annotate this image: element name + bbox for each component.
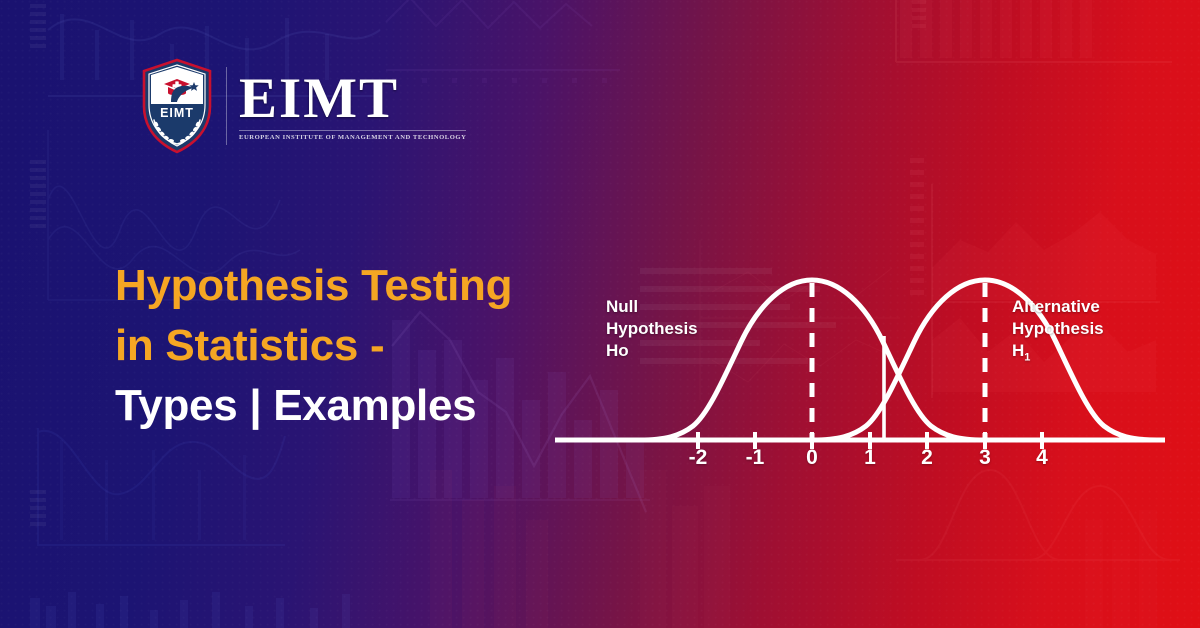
logo-text: EIMT EUROPEAN INSTITUTE OF MANAGEMENT AN…: [226, 67, 466, 145]
title-line-3: Types | Examples: [115, 376, 615, 436]
title-line-2: in Statistics -: [115, 316, 615, 376]
alt-label-line-2: Hypothesis: [1012, 318, 1104, 340]
svg-text:EIMT: EIMT: [160, 106, 194, 120]
title-line-1: Hypothesis Testing: [115, 256, 615, 316]
x-tick-label: -2: [683, 446, 713, 470]
x-tick-label: 0: [797, 446, 827, 470]
null-label-line-3: Ho: [606, 340, 698, 362]
null-label-line-1: Null: [606, 296, 698, 318]
alt-label-symbol: H: [1012, 341, 1024, 360]
x-tick-label: 1: [855, 446, 885, 470]
logo-tagline: EUROPEAN INSTITUTE OF MANAGEMENT AND TEC…: [239, 134, 466, 141]
page-title: Hypothesis Testing in Statistics - Types…: [115, 256, 615, 436]
null-hypothesis-label: Null Hypothesis Ho: [606, 296, 698, 362]
logo[interactable]: EIMT EIMT: [140, 58, 466, 154]
null-label-line-2: Hypothesis: [606, 318, 698, 340]
alternative-hypothesis-label: Alternative Hypothesis H1: [1012, 296, 1104, 368]
x-tick-label: 2: [912, 446, 942, 470]
banner: EIMT EIMT: [0, 0, 1200, 628]
alt-label-line-1: Alternative: [1012, 296, 1104, 318]
x-tick-label: -1: [740, 446, 770, 470]
x-tick-label: 3: [970, 446, 1000, 470]
alt-label-subscript: 1: [1024, 351, 1030, 363]
logo-divider: [239, 130, 466, 131]
alt-label-line-3: H1: [1012, 340, 1104, 368]
eimt-shield-icon: EIMT: [140, 58, 214, 154]
x-tick-label: 4: [1027, 446, 1057, 470]
logo-wordmark: EIMT: [239, 71, 466, 127]
